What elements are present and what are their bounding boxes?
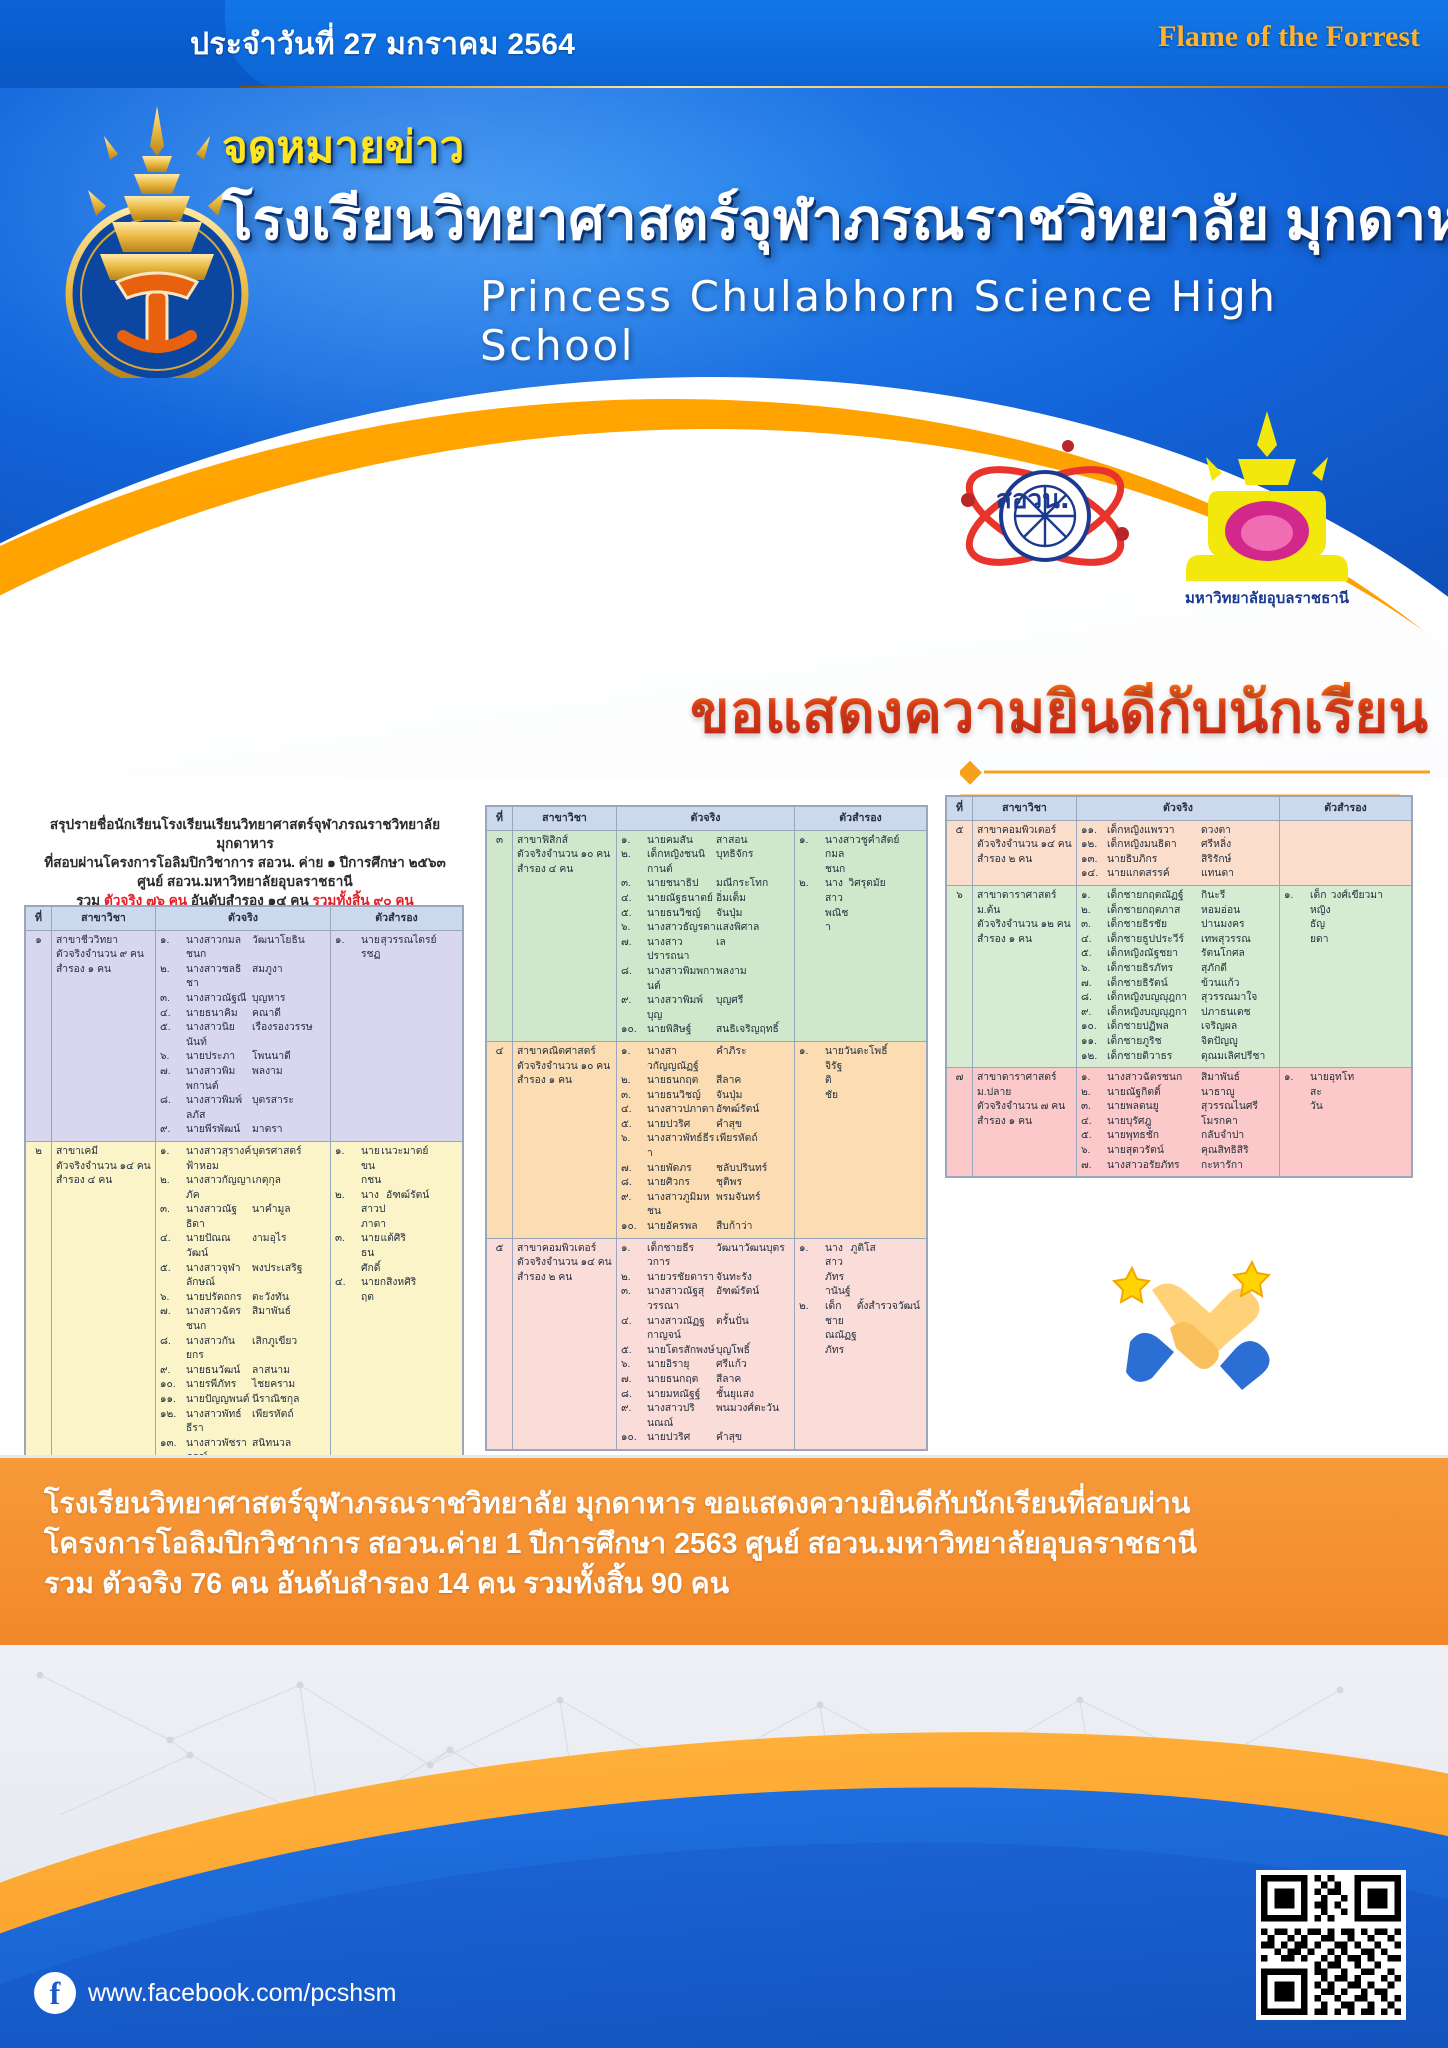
student-index: ๖. [1081,1144,1107,1159]
student-entry: ๑.นายจิรัฐติชัยวันตะโพธิ์ [799,1045,922,1103]
student-index: ๑. [1081,1071,1107,1086]
student-entry: ๔.นายบุรัศฎูโมรกคา [1081,1115,1275,1130]
student-index: ๕. [1081,1129,1107,1144]
student-index: ๑๒. [1081,1050,1107,1065]
student-entry: ๓.นายชนาธิปมณีกระโทก [621,877,790,892]
row-no: ๔ [487,1041,513,1238]
student-entry: ๒.นางสาวปภาดาอัฑฒ์รัตน์ [335,1189,458,1233]
student-entry: ๑๒.เด็กหญิงมนธิดาศรีหลิ่ง [1081,838,1275,853]
student-index: ๔. [621,1315,647,1344]
student-index: ๑. [1081,889,1107,904]
student-surname: บุทธิจักร [716,848,790,877]
student-index: ๑. [799,1242,825,1300]
student-entry: ๕.นางสาวนิยนันท์เรืองรองวรรษ [160,1021,326,1050]
student-surname: วันตะโพธิ์ [844,1045,926,1103]
student-entry: ๑.นางสาวกมลชนกวัฒนาโยธิน [160,934,326,963]
student-surname: ศรีหลิ่ง [1201,838,1275,853]
student-surname: วัฒนาโยธิน [252,934,326,963]
student-index: ๙. [621,1402,647,1431]
student-name: นางสาวพัทธ์ธีรา [647,1132,716,1161]
student-surname: ลาสนาม [252,1364,326,1379]
student-name: นายธนกฤต [647,1074,716,1089]
student-surname: กลับจำปา [1201,1129,1275,1144]
student-index: ๒. [621,848,647,877]
student-name: นายบุรัศฎู [1107,1115,1201,1130]
student-entry: ๔.นางสาวปภาดาอัฑฒ์รัตน์ [621,1103,790,1118]
student-index: ๓. [335,1232,361,1276]
subject-line: สาขาชีววิทยา [56,934,151,949]
student-name: นางสาวภูมิมหชน [647,1191,716,1220]
student-name: นายพีรพัฒน์ [186,1123,252,1138]
col-reserve: ตัวสำรอง [795,807,927,831]
student-entry: ๑.นางสาวสุรางค์ฟ้าหอมบุตรศาสตร์ [160,1145,326,1174]
ubu-logo-text: มหาวิทยาลัยอุบลราชธานี [1185,589,1350,608]
footer-banner-text: โรงเรียนวิทยาศาสตร์จุฬาภรณราชวิทยาลัย มุ… [44,1484,1418,1604]
student-entry: ๔.นายณัฐธนาตย์อิ่มเต็ม [621,892,790,907]
student-surname: มาตรา [252,1123,326,1138]
student-index: ๑. [621,834,647,849]
student-entry: ๖.เด็กชายธิรภัทรสุภักดี [1081,962,1275,977]
student-name: นายธิบภิกร [1107,853,1201,868]
student-name: นางสาวพิมพกานต์ [647,965,716,994]
student-entry: ๒.นายณัฐกิตติ์นาธาญู [1081,1086,1275,1101]
student-surname: ไชยคราม [252,1378,326,1393]
student-index: ๖. [160,1291,186,1306]
row-no: ๓ [487,830,513,1041]
student-surname: เพียรหัตถ์ [716,1132,790,1161]
student-name: นางสาวพิมพ์ลภัส [186,1094,252,1123]
student-index: ๔. [160,1232,186,1261]
row-subject: สาขาดาราศาสตร์ม.ต้นตัวจริงจำนวน ๑๒ คนสำร… [973,885,1077,1067]
student-index: ๔. [1081,933,1107,948]
results-table: ที่สาขาวิชาตัวจริงตัวสำรอง๕สาขาคอมพิวเตอ… [946,796,1412,1177]
student-name: นางสาวนิยนันท์ [186,1021,252,1050]
table-row: ๓สาขาฟิสิกส์ตัวจริงจำนวน ๑๐ คนสำรอง ๔ คน… [487,830,927,1041]
student-entry: ๔.นางสาวณัฏฐกาญจน์ตรั้นปั่น [621,1315,790,1344]
table-row: ๒สาขาเคมีตัวจริงจำนวน ๑๔ คนสำรอง ๔ คน๑.น… [26,1141,463,1484]
student-name: นางสาวปภาดา [361,1189,386,1233]
subject-line: สาขาดาราศาสตร์ [977,1071,1072,1086]
subject-line: สาขาคณิตศาสตร์ [517,1045,612,1060]
student-entry: ๓.นายธนวิชญ์จันปุ่ม [621,1089,790,1104]
student-entry: ๘.นางสาวกันยกรเสิกภูเขียว [160,1335,326,1364]
row-reserve-list: ๑.นายขนกชนเนวะมาตย์๒.นางสาวปภาดาอัฑฒ์รัต… [331,1141,463,1484]
student-surname: อิ่มเต็ม [716,892,790,907]
student-entry: ๑.นางสาวภัทรานันฐ์ภูติโส [799,1242,922,1300]
student-name: เด็กชายกฤตภาส [1107,904,1201,919]
student-surname: สุภักดี [1201,962,1275,977]
student-entry: ๑๓.นายธิบภิกรสิริรักษ์ [1081,853,1275,868]
col-subject: สาขาวิชา [513,807,617,831]
student-index: ๓. [621,1285,647,1314]
row-reserve-list: ๑.นายจิรัฐติชัยวันตะโพธิ์ [795,1041,927,1238]
student-surname: อัฑฒ์รัตน์ [386,1189,468,1233]
student-surname: สาสอน [716,834,790,849]
footer-banner-line-1: โรงเรียนวิทยาศาสตร์จุฬาภรณราชวิทยาลัย มุ… [44,1484,1418,1524]
row-no: ๕ [947,820,973,885]
student-entry: ๑๑.นายปัญญพนต์นีราณิชกุล [160,1393,326,1408]
student-index: ๒. [1081,904,1107,919]
student-entry: ๕.นางสาวจุฬาลักษณ์พงประเสริฐ [160,1262,326,1291]
student-name: เด็กชายปฏิพล [1107,1020,1201,1035]
row-subject: สาขาฟิสิกส์ตัวจริงจำนวน ๑๐ คนสำรอง ๔ คน [513,830,617,1041]
student-index: ๑๑. [160,1393,186,1408]
student-index: ๒. [160,1174,186,1203]
student-surname: คำสุข [716,1118,790,1133]
student-surname: มณีกระโทก [716,877,790,892]
student-surname: เสิกภูเขียว [252,1335,326,1364]
student-entry: ๑.นางสาวกมลชนกชูคำสัตย์ [799,834,922,878]
student-index: ๘. [160,1335,186,1364]
table-row: ๕สาขาคอมพิวเตอร์ตัวจริงจำนวน ๑๔ คนสำรอง … [487,1238,927,1449]
student-name: เด็กหญิงธัญยดา [1310,889,1331,947]
student-entry: ๒.นายวรชัยดาราจันทะรัง [621,1271,790,1286]
congratulations-headline: ขอแสดงความยินดีกับนักเรียน [690,665,1428,758]
student-entry: ๒.นายธนกฤตสีลาค [621,1074,790,1089]
results-table-3: ที่สาขาวิชาตัวจริงตัวสำรอง๕สาขาคอมพิวเตอ… [945,795,1413,1178]
student-entry: ๑๐.นายปวริศคำสุข [621,1431,790,1446]
student-surname: รัตนโกศล [1201,947,1275,962]
student-surname: ดวงตา [1201,824,1275,839]
student-entry: ๘.เด็กหญิงบญญุฎกาสุวรรณมาใจ [1081,991,1275,1006]
row-subject: สาขาเคมีตัวจริงจำนวน ๑๔ คนสำรอง ๔ คน [52,1141,156,1484]
student-surname: โมรกคา [1201,1115,1275,1130]
student-name: เด็กชายธิรชัย [1107,918,1201,933]
student-name: นายอัครพล [647,1220,716,1235]
student-surname: พลงาม [716,965,790,994]
student-surname: เล [716,936,790,965]
student-surname: บุตรสาระ [252,1094,326,1123]
student-entry: ๘.นายมหณัฐฐ์ชั้นยุแสง [621,1388,790,1403]
student-entry: ๖.นางสาวพัทธ์ธีราเพียรหัตถ์ [621,1132,790,1161]
student-entry: ๑๐.นายรพีภัทรไชยคราม [160,1378,326,1393]
student-surname: กินะรี [1201,889,1275,904]
row-reserve-list: ๑.เด็กหญิงธัญยดาวงศ์เขียวมา [1280,885,1412,1067]
student-surname: สนธิเจริญฤทธิ์ [716,1023,790,1038]
hero-kicker: จดหมายข่าว [222,112,464,182]
student-name: นายขนกชน [361,1145,381,1189]
student-surname: บุญศรี [716,994,790,1023]
row-main-list: ๑.นางสาวกัญญณัฏฐ์คำภิระ๒.นายธนกฤตสีลาค๓.… [617,1041,795,1238]
student-index: ๕. [621,1344,647,1359]
student-index: ๔. [621,1103,647,1118]
student-surname: วงศ์เขียวมา [1331,889,1413,947]
student-name: เด็กชายณณัฏฐภัทร [825,1300,857,1358]
student-entry: ๒.นางสาวพณิชาวิศรุตมัย [799,877,922,935]
hero-title-english: Princess Chulabhorn Science High School [480,272,1448,370]
row-no: ๗ [947,1068,973,1177]
student-index: ๑. [335,934,361,963]
student-name: นางสาวพณิชา [825,877,848,935]
student-surname: สิริรักษ์ [1201,853,1275,868]
student-name: เด็กชายธีรวการ [647,1242,716,1271]
student-entry: ๑๐.เด็กชายปฏิพลเจริญผล [1081,1020,1275,1035]
col-no: ที่ [487,807,513,831]
student-index: ๑๐. [621,1431,647,1446]
student-entry: ๕.นายโตรสักพงษ์บุญโพธิ์ [621,1344,790,1359]
col-no: ที่ [947,797,973,821]
student-entry: ๑.นางสาวฉัตรชนกสิมาพันธ์ [1081,1071,1275,1086]
student-entry: ๙.นายพีรพัฒน์มาตรา [160,1123,326,1138]
student-entry: ๙.นางสวาพิมพ์บุญบุญศรี [621,994,790,1023]
student-index: ๕. [160,1262,186,1291]
student-name: นางสาวจุฬาลักษณ์ [186,1262,252,1291]
footer-section: f www.facebook.com/pcshsm [0,1645,1448,2048]
facebook-url[interactable]: www.facebook.com/pcshsm [88,1979,396,2008]
student-index: ๙. [160,1123,186,1138]
student-entry: ๔.นายกฤตสิงหศิริ [335,1276,458,1305]
student-index: ๘. [1081,991,1107,1006]
student-index: ๓. [160,992,186,1007]
atom-icon: สอวน. [950,430,1140,620]
row-main-list: ๑.นายคมสันสาสอน๒.เด็กหญิงชนนิกานต์บุทธิจ… [617,830,795,1041]
table-header-row: ที่สาขาวิชาตัวจริงตัวสำรอง [26,907,463,931]
ubu-emblem-icon: มหาวิทยาลัยอุบลราชธานี [1160,405,1375,630]
subject-line: ตัวจริงจำนวน ๑๔ คน [517,1256,612,1271]
student-index: ๔. [1081,1115,1107,1130]
student-surname: ปภาธนเดช [1201,1006,1275,1021]
student-name: เด็กชายดิวาธร [1107,1050,1201,1065]
col-subject: สาขาวิชา [973,797,1077,821]
student-index: ๔. [160,1007,186,1022]
student-name: นางสาวธัญรดา [647,921,716,936]
student-name: นายธนวิชญ์ [647,907,716,922]
student-name: นายสะวัน [1310,1071,1329,1115]
student-entry: ๑๐.นายอัครพลสืบก้าว่า [621,1220,790,1235]
student-name: เด็กชายธิรัตน์ [1107,977,1201,992]
student-entry: ๕.นายธนวิชญ์จันปุ่ม [621,907,790,922]
student-entry: ๙.นางสาวภูมิมหชนพรมจันทร์ [621,1191,790,1220]
student-index: ๗. [160,1065,186,1094]
facebook-link[interactable]: f www.facebook.com/pcshsm [34,1972,396,2014]
col-main: ตัวจริง [156,907,331,931]
student-surname: ชลับปรินทร์ [716,1162,790,1177]
student-name: นายโตรสักพงษ์ [647,1344,716,1359]
student-surname: ศรีแก้ว [716,1358,790,1373]
student-name: นายพุทธชัก [1107,1129,1201,1144]
student-entry: ๓.เด็กชายธิรชัยปานมงคร [1081,918,1275,933]
subject-line: สาขาดาราศาสตร์ [977,889,1072,904]
footer-banner-line-2: โครงการโอลิมปิกวิชาการ สอวน.ค่าย 1 ปีการ… [44,1524,1418,1564]
issue-date: ประจำวันที่ 27 มกราคม 2564 [190,21,575,68]
student-name: นายสุดวรัตน์ [1107,1144,1201,1159]
student-surname: สีลาค [716,1074,790,1089]
student-index: ๖. [621,1132,647,1161]
student-surname: สุวรรณไนศรี [1201,1100,1275,1115]
clapping-hands-icon [1110,1250,1275,1405]
student-surname: อัฑฒ์รัตน์ [716,1103,790,1118]
col-no: ที่ [26,907,52,931]
student-index: ๓. [621,1089,647,1104]
student-entry: ๖.นายปรัตถกรตะวังทัน [160,1291,326,1306]
row-subject: สาขาคณิตศาสตร์ตัวจริงจำนวน ๑๐ คนสำรอง ๑ … [513,1041,617,1238]
student-entry: ๗.นายพัดภรชลับปรินทร์ [621,1162,790,1177]
student-name: นายอิรายุ [647,1358,716,1373]
student-entry: ๙.นายธนวัฒน์ลาสนาม [160,1364,326,1379]
col-reserve: ตัวสำรอง [1280,797,1412,821]
student-index: ๑๑. [1081,1035,1107,1050]
table-row: ๑สาขาชีววิทยาตัวจริงจำนวน ๙ คนสำรอง ๑ คน… [26,930,463,1141]
student-name: นางสาวพิมพกานต์ [186,1065,252,1094]
qr-code[interactable] [1256,1870,1406,2020]
student-index: ๒. [799,1300,825,1358]
summary-line-3: ศูนย์ สอวน.มหาวิทยาลัยอุบลราชธานี [20,872,470,891]
student-name: นางสาวภัทรานันฐ์ [825,1242,851,1300]
student-name: นางสาวกันยกร [186,1335,252,1364]
student-name: นายธนศักดิ์ [361,1232,380,1276]
col-main: ตัวจริง [617,807,795,831]
student-name: นายรพีภัทร [186,1378,252,1393]
student-surname: สิงหศิริ [386,1276,468,1305]
student-index: ๘. [621,1176,647,1191]
row-no: ๑ [26,930,52,1141]
student-surname: แต้ศิริ [380,1232,462,1276]
student-index: ๒. [1081,1086,1107,1101]
facebook-icon[interactable]: f [34,1972,76,2014]
student-surname: บุตรศาสตร์ [252,1145,326,1174]
student-name: นายธนวัฒน์ [186,1364,252,1379]
student-name: นางสาวกัญญาภัค [186,1174,252,1203]
row-main-list: ๑.เด็กชายกฤตณัฏฐ์กินะรี๒.เด็กชายกฤตภาสหอ… [1077,885,1280,1067]
row-no: ๕ [487,1238,513,1449]
student-surname: เจริญผล [1201,1020,1275,1035]
student-name: เด็กชายภูริช [1107,1035,1201,1050]
student-surname: สิมาพันธ์ [1201,1071,1275,1086]
row-main-list: ๑.นางสาวกมลชนกวัฒนาโยธิน๒.นางสาวชลธิชาสม… [156,930,331,1141]
student-name: นางสาวปรารถนา [647,936,716,965]
student-surname: บุญโพธิ์ [716,1344,790,1359]
student-name: นายคมสัน [647,834,716,849]
student-index: ๒. [621,1074,647,1089]
student-name: เด็กหญิงณัฐชยา [1107,947,1201,962]
student-entry: ๖.นายสุดวรัตน์คุณสิทธิสิริ [1081,1144,1275,1159]
student-index: ๖. [621,1358,647,1373]
subject-line: สำรอง ๔ คน [517,863,612,878]
student-name: นางสาวณัฐสุวรรณา [647,1285,716,1314]
row-subject: สาขาคอมพิวเตอร์ตัวจริงจำนวน ๑๔ คนสำรอง ๒… [513,1238,617,1449]
student-index: ๔. [335,1276,361,1305]
publication-name: Flame of the Forrest [1158,20,1420,54]
student-entry: ๕.นายพุทธชักกลับจำปา [1081,1129,1275,1144]
student-index: ๑. [799,834,825,878]
results-table-2: ที่สาขาวิชาตัวจริงตัวสำรอง๓สาขาฟิสิกส์ตั… [485,805,928,1451]
student-entry: ๑.เด็กชายธีรวการวัฒนาวัฒนบุตร [621,1242,790,1271]
subject-line: สำรอง ๒ คน [517,1271,612,1286]
student-entry: ๖.นายประภาโพนนาดี [160,1050,326,1065]
student-entry: ๓.นางสาวณัฐธิดานาคำมูล [160,1203,326,1232]
col-subject: สาขาวิชา [52,907,156,931]
ubu-logo: มหาวิทยาลัยอุบลราชธานี [1160,405,1375,630]
student-surname: เนวะมาตย์ [381,1145,463,1189]
subject-line: ม.ปลาย [977,1086,1072,1101]
student-surname: สิมาพันธ์ [252,1305,326,1334]
student-surname: วิศรุตมัย [848,877,930,935]
student-index: ๑. [621,1045,647,1074]
student-name: นายวรชัยดารา [647,1271,716,1286]
student-name: นายจิรัฐติชัย [825,1045,844,1103]
row-main-list: ๑.เด็กชายธีรวการวัฒนาวัฒนบุตร๒.นายวรชัยด… [617,1238,795,1449]
row-subject: สาขาดาราศาสตร์ม.ปลายตัวจริงจำนวน ๗ คนสำร… [973,1068,1077,1177]
results-table-1: ที่สาขาวิชาตัวจริงตัวสำรอง๑สาขาชีววิทยาต… [24,905,464,1486]
qr-code-icon[interactable] [1261,1875,1401,2015]
student-name: นายปวริศ [647,1431,716,1446]
student-surname: คุณสิทธิสิริ [1201,1144,1275,1159]
student-entry: ๖.นายอิรายุศรีแก้ว [621,1358,790,1373]
student-surname: คำภิระ [716,1045,790,1074]
student-index: ๕. [621,1118,647,1133]
student-index: ๘. [160,1094,186,1123]
student-index: ๗. [1081,1159,1107,1174]
student-name: เด็กชายกฤตณัฏฐ์ [1107,889,1201,904]
col-main: ตัวจริง [1077,797,1280,821]
student-name: นางสาวอรัยภัทร [1107,1159,1201,1174]
table-row: ๖สาขาดาราศาสตร์ม.ต้นตัวจริงจำนวน ๑๒ คนสำ… [947,885,1412,1067]
student-name: นางสาวชลธิชา [186,963,252,992]
row-reserve-list: ๑.นางสาวกมลชนกชูคำสัตย์๒.นางสาวพณิชาวิศร… [795,830,927,1041]
student-index: ๑๐. [621,1220,647,1235]
student-name: นายแกตสรรค์ [1107,867,1201,882]
student-entry: ๑๐.นายพิสิษฐ์สนธิเจริญฤทธิ์ [621,1023,790,1038]
student-name: เด็กหญิงชนนิกานต์ [647,848,716,877]
student-index: ๗. [621,1373,647,1388]
student-entry: ๓.นายธนศักดิ์แต้ศิริ [335,1232,458,1276]
student-name: นายธนกฤต [647,1373,716,1388]
subject-line: ม.ต้น [977,904,1072,919]
student-index: ๒. [621,1271,647,1286]
student-entry: ๑๒.นางสาวพัทธ์ธีราเพียรหัตถ์ [160,1408,326,1437]
student-entry: ๑.นายคมสันสาสอน [621,834,790,849]
student-surname: จันปุ่ม [716,907,790,922]
student-surname: เรืองรองวรรษ [252,1021,326,1050]
student-index: ๘. [621,965,647,994]
student-surname: งามอุไร [252,1232,326,1261]
subject-line: สำรอง ๑ คน [517,1074,612,1089]
student-name: นางสาวกัญญณัฏฐ์ [647,1045,716,1074]
student-name: นายพลดนยู [1107,1100,1201,1115]
student-surname: วัฒนาวัฒนบุตร [716,1242,790,1271]
student-name: นายณัฐกิตติ์ [1107,1086,1201,1101]
subject-line: สาขาคอมพิวเตอร์ [977,824,1072,839]
student-index: ๒. [160,963,186,992]
subject-line: สำรอง ๔ คน [56,1174,151,1189]
student-entry: ๙.นางสาวปรินณณ์พนมวงศ์ตะวัน [621,1402,790,1431]
student-surname: ข้วนแก้ว [1201,977,1275,992]
student-entry: ๓.นางสาวณัฐณีบุญหาร [160,992,326,1007]
student-entry: ๑.นายสะวันอุทโท [1284,1071,1407,1115]
student-name: นายปัญญพนต์ [186,1393,252,1408]
student-entry: ๒.นางสาวชลธิชาสมภูงา [160,963,326,992]
student-entry: ๑๒.เด็กชายดิวาธรดุณมเลิศปรีชา [1081,1050,1275,1065]
student-surname: กะหารักา [1201,1159,1275,1174]
student-name: นางสาวปรินณณ์ [647,1402,716,1431]
student-entry: ๗.นายธนกฤตสีลาค [621,1373,790,1388]
student-entry: ๖.นางสาวธัญรดาแสงพิศาล [621,921,790,936]
row-reserve-list: ๑.นางสาวภัทรานันฐ์ภูติโส๒.เด็กชายณณัฏฐภั… [795,1238,927,1449]
student-index: ๙. [621,994,647,1023]
student-name: นางสาวณัฏฐกาญจน์ [647,1315,716,1344]
footer-banner: โรงเรียนวิทยาศาสตร์จุฬาภรณราชวิทยาลัย มุ… [0,1455,1448,1645]
student-surname: พรมจันทร์ [716,1191,790,1220]
student-surname: สืบก้าว่า [716,1220,790,1235]
student-index: ๑๒. [1081,838,1107,853]
student-name: นายกฤต [361,1276,386,1305]
student-surname: นีราณิชกุล [252,1393,326,1408]
student-entry: ๑๔.นายแกตสรรค์แทนดา [1081,867,1275,882]
table-row: ๔สาขาคณิตศาสตร์ตัวจริงจำนวน ๑๐ คนสำรอง ๑… [487,1041,927,1238]
student-surname: ตะวังทัน [252,1291,326,1306]
subject-line: ตัวจริงจำนวน ๑๐ คน [517,848,612,863]
student-entry: ๘.นายศิวกรชุติพร [621,1176,790,1191]
